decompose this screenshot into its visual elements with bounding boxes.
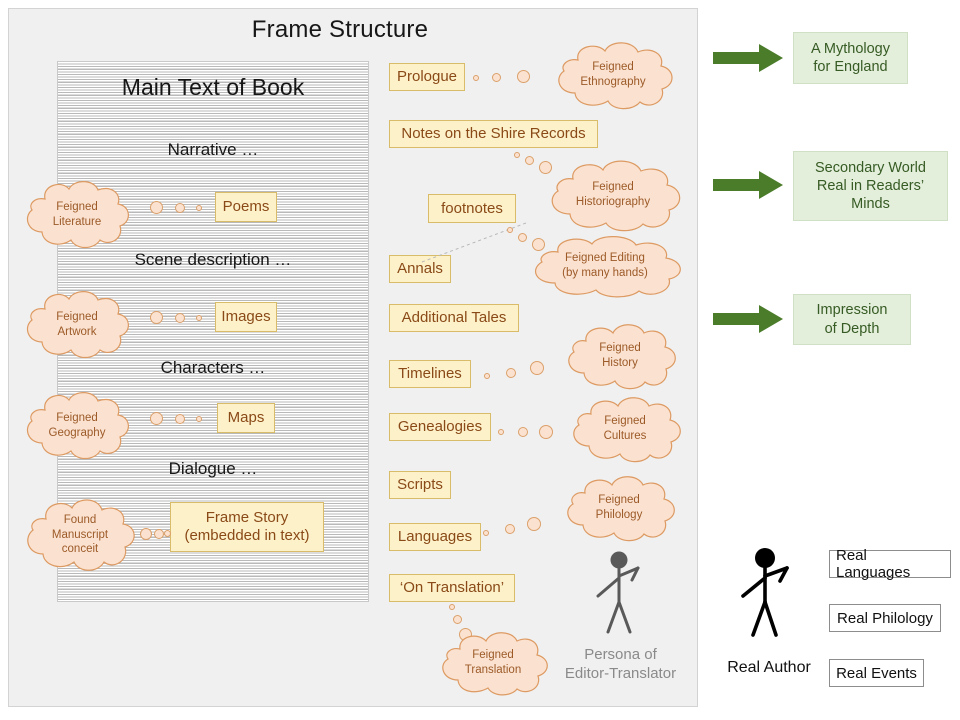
paratext-box-prologue[interactable]: Prologue: [389, 63, 465, 91]
inner-box-images[interactable]: Images: [215, 302, 277, 332]
bubble-dot: [175, 414, 185, 424]
arrow-to-secondary-world: [713, 171, 783, 199]
cloud-feigned-editing: Feigned Editing (by many hands): [522, 233, 688, 299]
main-text-line-narrative: Narrative …: [57, 140, 369, 160]
bubble-dot: [164, 530, 171, 537]
outcome-box-mythology[interactable]: A Mythology for England: [793, 32, 908, 84]
real-box-events[interactable]: Real Events: [829, 659, 924, 687]
outcome-line-2: of Depth: [825, 320, 880, 338]
thought-cloud-icon: [18, 287, 136, 362]
paratext-box-scripts[interactable]: Scripts: [389, 471, 451, 499]
bubble-dot: [518, 427, 528, 437]
thought-cloud-icon: [18, 388, 136, 463]
thought-cloud-icon: [432, 629, 554, 697]
outcome-line-2: Real in Readers’: [817, 177, 924, 195]
diagram-canvas: Frame Structure Main Text of Book Narrat…: [0, 0, 960, 720]
real-author-label: Real Author: [705, 659, 833, 677]
bubble-dot: [453, 615, 462, 624]
bubble-dot: [196, 205, 202, 211]
bubble-dot: [175, 313, 185, 323]
bubble-dot: [492, 73, 501, 82]
paratext-box-genealogies[interactable]: Genealogies: [389, 413, 491, 441]
stick-figure-icon: [730, 546, 810, 642]
cloud-feigned-translation: Feigned Translation: [432, 629, 554, 697]
cloud-feigned-history: Feigned History: [558, 321, 682, 391]
main-text-heading: Main Text of Book: [57, 74, 369, 101]
green-right-arrow-icon: [713, 44, 783, 72]
arrow-to-mythology: [713, 44, 783, 72]
thought-cloud-icon: [540, 157, 686, 233]
bubble-dot: [150, 412, 163, 425]
bubble-dot: [530, 361, 544, 375]
stick-figure-icon: [586, 550, 658, 638]
cloud-feigned-historiography: Feigned Historiography: [540, 157, 686, 233]
green-right-arrow-icon: [713, 171, 783, 199]
inner-box-maps[interactable]: Maps: [217, 403, 275, 433]
outcome-line-3: Minds: [851, 195, 890, 213]
cloud-found-manuscript-conceit: Found Manuscript conceit: [18, 495, 142, 575]
outcome-box-secondary-world[interactable]: Secondary World Real in Readers’ Minds: [793, 151, 948, 221]
cloud-feigned-geography: Feigned Geography: [18, 388, 136, 463]
bubble-dot: [507, 227, 513, 233]
bubble-dot: [196, 416, 202, 422]
outcome-box-impression-of-depth[interactable]: Impression of Depth: [793, 294, 911, 345]
persona-line-2: Editor-Translator: [548, 665, 693, 684]
inner-box-poems[interactable]: Poems: [215, 192, 277, 222]
main-text-line-scene: Scene description …: [57, 250, 369, 270]
frame-story-line-1: Frame Story: [206, 509, 289, 527]
bubble-dot: [140, 528, 152, 540]
bubble-dot: [154, 529, 164, 539]
bubble-dot: [498, 429, 504, 435]
bubble-dot: [196, 315, 202, 321]
bubble-dot: [514, 152, 520, 158]
footnotes-annals-connector: [420, 220, 534, 264]
real-author-stick-figure: [730, 546, 810, 642]
real-box-philology[interactable]: Real Philology: [829, 604, 941, 632]
bubble-dot: [449, 604, 455, 610]
bubble-dot: [505, 524, 515, 534]
outcome-line-1: Secondary World: [815, 159, 926, 177]
outcome-line-1: A Mythology: [811, 40, 890, 58]
cloud-feigned-artwork: Feigned Artwork: [18, 287, 136, 362]
paratext-box-footnotes[interactable]: footnotes: [428, 194, 516, 223]
inner-box-frame-story[interactable]: Frame Story (embedded in text): [170, 502, 324, 552]
thought-cloud-icon: [563, 394, 687, 464]
thought-cloud-icon: [558, 321, 682, 391]
bubble-dot: [527, 517, 541, 531]
paratext-box-notes-shire-records[interactable]: Notes on the Shire Records: [389, 120, 598, 148]
bubble-dot: [150, 311, 163, 324]
bubble-dot: [484, 373, 490, 379]
cloud-feigned-cultures: Feigned Cultures: [563, 394, 687, 464]
persona-stick-figure: [586, 550, 658, 638]
paratext-box-languages[interactable]: Languages: [389, 523, 481, 551]
paratext-box-timelines[interactable]: Timelines: [389, 360, 471, 388]
bubble-dot: [175, 203, 185, 213]
thought-cloud-icon: [548, 39, 678, 111]
bubble-dot: [483, 530, 489, 536]
thought-cloud-icon: [18, 495, 142, 575]
arrow-to-impression-of-depth: [713, 305, 783, 333]
page-title: Frame Structure: [180, 16, 500, 44]
outcome-line-2: for England: [813, 58, 887, 76]
thought-cloud-icon: [18, 177, 136, 252]
cloud-feigned-philology: Feigned Philology: [557, 473, 681, 543]
cloud-feigned-ethnography: Feigned Ethnography: [548, 39, 678, 111]
paratext-box-on-translation[interactable]: ‘On Translation’: [389, 574, 515, 602]
frame-story-line-2: (embedded in text): [184, 527, 309, 545]
thought-cloud-icon: [522, 233, 688, 299]
bubble-dot: [506, 368, 516, 378]
thought-cloud-icon: [557, 473, 681, 543]
bubble-dot: [525, 156, 534, 165]
outcome-line-1: Impression: [817, 301, 888, 319]
bubble-dot: [150, 201, 163, 214]
bubble-dot: [473, 75, 479, 81]
persona-line-1: Persona of: [548, 646, 693, 665]
green-right-arrow-icon: [713, 305, 783, 333]
paratext-box-additional-tales[interactable]: Additional Tales: [389, 304, 519, 332]
real-box-languages[interactable]: Real Languages: [829, 550, 951, 578]
bubble-dot: [517, 70, 530, 83]
bubble-dot: [539, 425, 553, 439]
persona-label: Persona of Editor-Translator: [548, 646, 693, 684]
cloud-feigned-literature: Feigned Literature: [18, 177, 136, 252]
